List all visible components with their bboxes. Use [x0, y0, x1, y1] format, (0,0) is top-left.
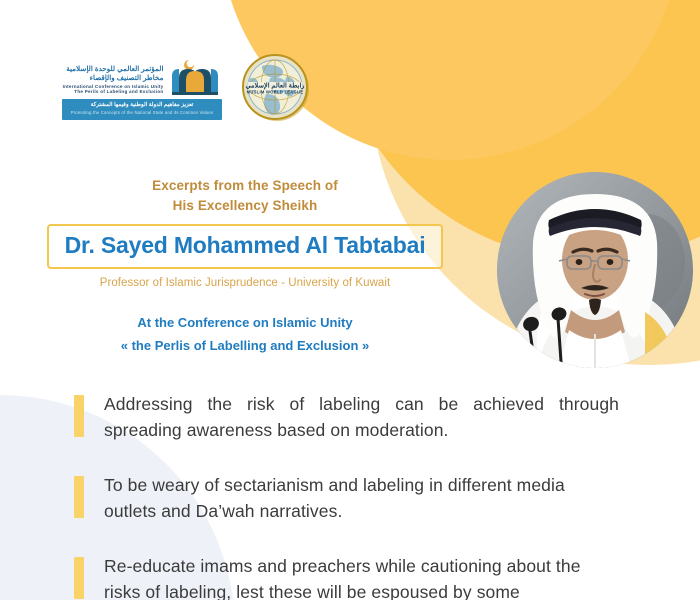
bullet-list: Addressing the risk of labeling can be a…	[74, 392, 619, 600]
excerpt-line-1: Excerpts from the Speech of	[0, 176, 490, 196]
speaker-portrait	[497, 172, 693, 368]
banner-english-text: Promoting the Concepts of the National S…	[66, 110, 218, 116]
conference-line-2: « the Perlis of Labelling and Exclusion …	[0, 335, 490, 358]
banner-arabic-text: تعزيز مفاهيم الدولة الوطنية وقيمها المشت…	[66, 102, 218, 109]
bullet-item: Re-educate imams and preachers while cau…	[74, 554, 619, 600]
muslim-world-league-logo: رابطة العالم الإسلامي MUSLIM WORLD LEAGU…	[240, 52, 312, 124]
conference-logo-banner: تعزيز مفاهيم الدولة الوطنية وقيمها المشت…	[62, 99, 222, 119]
header-logos: المؤتمر العالمي للوحدة الإسلامية مخاطر ا…	[62, 52, 312, 124]
title-block: Excerpts from the Speech of His Excellen…	[0, 176, 490, 289]
poster-canvas: المؤتمر العالمي للوحدة الإسلامية مخاطر ا…	[0, 0, 700, 600]
conference-logo-top: المؤتمر العالمي للوحدة الإسلامية مخاطر ا…	[63, 56, 222, 96]
speaker-role: Professor of Islamic Jurisprudence - Uni…	[0, 277, 490, 289]
excerpt-line-2: His Excellency Sheikh	[0, 196, 490, 216]
speaker-name: Dr. Sayed Mohammed Al Tabtabai	[65, 232, 426, 259]
conference-logo-text: المؤتمر العالمي للوحدة الإسلامية مخاطر ا…	[63, 65, 164, 96]
mosque-arch-icon	[169, 56, 221, 96]
conference-logo-english-line2: The Perils of Labeling and Exclusion	[63, 89, 164, 94]
bullet-bar-icon	[74, 476, 84, 518]
bullet-text: Addressing the risk of labeling can be a…	[104, 392, 619, 443]
conference-block: At the Conference on Islamic Unity « the…	[0, 312, 490, 358]
speaker-name-box: Dr. Sayed Mohammed Al Tabtabai	[47, 224, 444, 269]
conference-logo: المؤتمر العالمي للوحدة الإسلامية مخاطر ا…	[62, 56, 222, 119]
conference-line-1: At the Conference on Islamic Unity	[0, 312, 490, 335]
bullet-item: Addressing the risk of labeling can be a…	[74, 392, 619, 443]
bullet-text: To be weary of sectarianism and labeling…	[104, 473, 619, 524]
bullet-bar-icon	[74, 557, 84, 599]
bullet-bar-icon	[74, 395, 84, 437]
bullet-text: Re-educate imams and preachers while cau…	[104, 554, 619, 600]
conference-logo-arabic-line2: مخاطر التصنيف والإقصاء	[63, 74, 164, 82]
bullet-item: To be weary of sectarianism and labeling…	[74, 473, 619, 524]
svg-text:MUSLIM WORLD LEAGUE: MUSLIM WORLD LEAGUE	[247, 89, 304, 94]
globe-icon: رابطة العالم الإسلامي MUSLIM WORLD LEAGU…	[240, 52, 312, 124]
